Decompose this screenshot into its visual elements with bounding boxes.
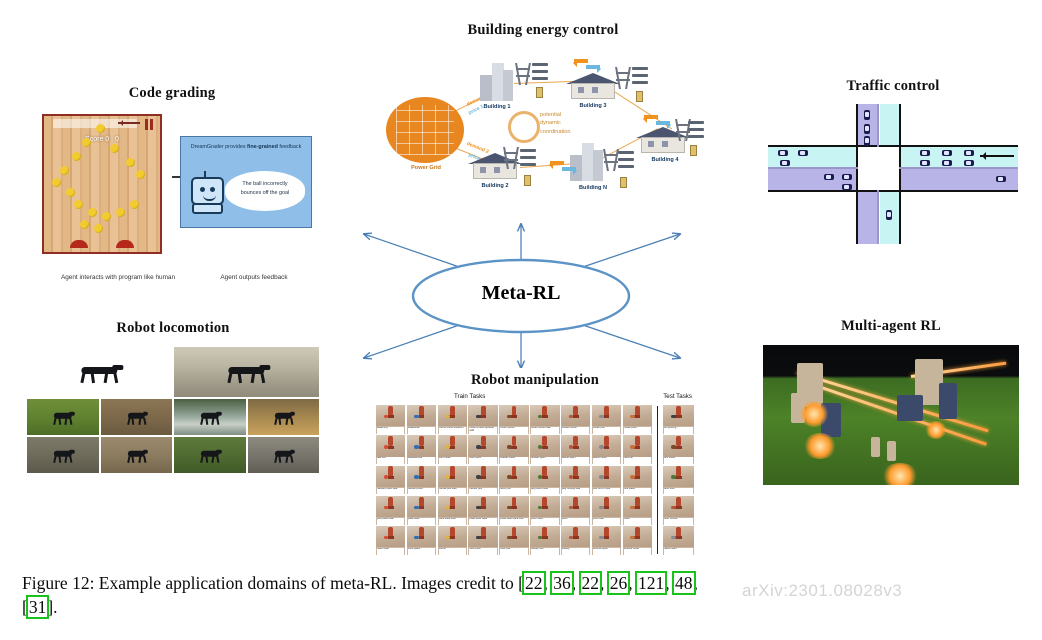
gripper-icon bbox=[573, 476, 579, 479]
task-thumbnail: window open bbox=[592, 526, 621, 555]
ball bbox=[102, 212, 111, 221]
locomotion-photo bbox=[27, 399, 99, 435]
gripper-icon bbox=[480, 506, 486, 509]
task-label: button press topdown bbox=[439, 427, 466, 434]
locomotion-photo bbox=[174, 437, 246, 473]
gripper-icon bbox=[449, 415, 455, 418]
energy-arrow-orange bbox=[550, 161, 564, 165]
task-image bbox=[499, 466, 528, 487]
locomotion-photo bbox=[174, 399, 246, 435]
task-thumbnail: sweep into bbox=[530, 526, 559, 555]
bubble-line-1: The ball incorrectly bbox=[225, 180, 305, 189]
task-thumbnail: door unlock bbox=[663, 496, 694, 525]
task-thumbnail: plate slide back side bbox=[499, 496, 528, 525]
task-label: basketball bbox=[408, 427, 435, 434]
gripper-icon bbox=[419, 476, 425, 479]
task-thumbnail: window close bbox=[623, 526, 652, 555]
task-object bbox=[671, 475, 676, 478]
task-image bbox=[468, 526, 497, 547]
gripper-icon bbox=[604, 476, 610, 479]
ball bbox=[66, 188, 75, 197]
starcraft-battle-screenshot bbox=[763, 345, 1019, 485]
traffic-control-title: Traffic control bbox=[762, 78, 1024, 95]
explosion bbox=[881, 463, 919, 485]
ball bbox=[82, 138, 91, 147]
feedback-header-bold: fine-grained bbox=[247, 144, 278, 150]
coordination-icon bbox=[508, 111, 540, 143]
building-4-label: Building 4 bbox=[636, 157, 694, 163]
task-image bbox=[438, 466, 467, 487]
task-label: door lock bbox=[664, 488, 693, 495]
pylon-icon bbox=[516, 63, 530, 85]
car bbox=[942, 150, 952, 156]
task-object bbox=[476, 536, 481, 539]
paddle-right bbox=[116, 240, 134, 248]
gripper-icon bbox=[388, 536, 394, 539]
gripper-icon bbox=[675, 446, 681, 449]
gripper-icon bbox=[675, 536, 681, 539]
road-edge bbox=[899, 104, 901, 244]
task-image bbox=[407, 405, 436, 426]
task-thumbnail: plate slide side bbox=[438, 496, 467, 525]
task-image bbox=[468, 496, 497, 517]
code-grading-body: Score 0 : 0 DreamGrader provides fine-gr… bbox=[32, 114, 312, 264]
panel-building-energy: Building energy control Power Grid poten… bbox=[368, 22, 718, 201]
bubble-line-2: bounces off the goal bbox=[225, 189, 305, 198]
robot-locomotion-title: Robot locomotion bbox=[18, 320, 328, 337]
task-image bbox=[376, 466, 405, 487]
task-image bbox=[438, 405, 467, 426]
task-thumbnail: handle press bbox=[407, 466, 436, 495]
task-thumbnail: sweep bbox=[561, 526, 590, 555]
task-label: peg unplug side bbox=[562, 488, 589, 495]
task-thumbnail: faucet open bbox=[561, 435, 590, 464]
task-label: soccer bbox=[439, 548, 466, 555]
explosion bbox=[925, 421, 947, 439]
task-label: sweep into bbox=[531, 548, 558, 555]
panel-multi-agent-rl: Multi-agent RL bbox=[760, 318, 1022, 485]
citation-ref[interactable]: 26 bbox=[609, 573, 629, 593]
robot-locomotion-collage bbox=[27, 347, 319, 469]
task-thumbnail: hammer bbox=[623, 435, 652, 464]
task-object bbox=[384, 445, 389, 448]
task-thumbnail: pick place bbox=[623, 466, 652, 495]
ball bbox=[130, 200, 139, 209]
task-image bbox=[438, 435, 467, 456]
gripper-icon bbox=[480, 415, 486, 418]
task-image bbox=[561, 405, 590, 426]
task-object bbox=[414, 475, 419, 478]
car bbox=[964, 150, 974, 156]
task-thumbnail: dial turn bbox=[376, 435, 405, 464]
task-image bbox=[623, 435, 652, 456]
task-object bbox=[671, 445, 676, 448]
gripper-icon bbox=[511, 476, 517, 479]
paddle-left bbox=[70, 240, 88, 248]
panel-robot-locomotion: Robot locomotion bbox=[18, 320, 328, 469]
car bbox=[964, 160, 974, 166]
power-grid-label: Power Grid bbox=[388, 165, 464, 171]
ball bbox=[72, 152, 81, 161]
task-object bbox=[630, 415, 635, 418]
energy-arrow-blue bbox=[562, 167, 576, 171]
task-image bbox=[663, 526, 694, 547]
gripper-icon bbox=[542, 476, 548, 479]
energy-arrow-blue bbox=[656, 121, 670, 125]
task-label: stick pull bbox=[500, 548, 527, 555]
task-object bbox=[507, 506, 512, 509]
task-thumbnail: coffee button bbox=[561, 405, 590, 434]
task-object bbox=[671, 506, 676, 509]
task-thumbnail: reach wall bbox=[376, 526, 405, 555]
task-thumbnail: stick push bbox=[468, 526, 497, 555]
task-image bbox=[663, 435, 694, 456]
task-object bbox=[599, 475, 604, 478]
subcaption-right: Agent outputs feedback bbox=[184, 274, 324, 281]
task-image bbox=[438, 496, 467, 517]
ball bbox=[110, 144, 119, 153]
coordination-label: potential dynamic coordination bbox=[540, 111, 600, 136]
task-thumbnail: soccer bbox=[438, 526, 467, 555]
task-label: window close bbox=[624, 548, 651, 555]
pylon-icon bbox=[604, 149, 618, 171]
feedback-header: DreamGrader provides fine-grained feedba… bbox=[186, 143, 306, 151]
task-object bbox=[630, 445, 635, 448]
ball bbox=[88, 208, 97, 217]
feedback-header-prefix: DreamGrader provides bbox=[191, 144, 247, 150]
task-image bbox=[592, 435, 621, 456]
gripper-icon bbox=[604, 536, 610, 539]
road-edge bbox=[768, 190, 1018, 192]
task-thumbnail: peg insert side bbox=[530, 466, 559, 495]
gripper-icon bbox=[388, 446, 394, 449]
task-label: button press bbox=[500, 427, 527, 434]
task-label: pick place bbox=[624, 488, 651, 495]
task-image bbox=[530, 466, 559, 487]
task-object bbox=[445, 475, 450, 478]
task-object bbox=[630, 475, 635, 478]
building-n-icon bbox=[570, 141, 604, 181]
gripper-icon bbox=[634, 415, 640, 418]
task-image bbox=[499, 405, 528, 426]
task-image bbox=[561, 435, 590, 456]
ball bbox=[116, 208, 125, 217]
task-label: handle press side bbox=[377, 488, 404, 495]
task-thumbnail: box close bbox=[663, 435, 694, 464]
car bbox=[864, 110, 870, 120]
task-image bbox=[623, 405, 652, 426]
task-object bbox=[414, 506, 419, 509]
task-object bbox=[671, 415, 676, 418]
task-image bbox=[623, 526, 652, 547]
pylon-icon bbox=[504, 147, 518, 169]
gripper-icon bbox=[573, 446, 579, 449]
task-object bbox=[599, 415, 604, 418]
task-image bbox=[499, 526, 528, 547]
task-label: stick push bbox=[469, 548, 496, 555]
citation-ref[interactable]: 48 bbox=[674, 573, 694, 593]
locomotion-photo bbox=[248, 437, 320, 473]
figure-caption: Figure 12: Example application domains o… bbox=[22, 572, 1022, 619]
task-label: push bbox=[562, 518, 589, 525]
task-object bbox=[445, 415, 450, 418]
game-pause-icon bbox=[145, 119, 153, 130]
task-image bbox=[663, 466, 694, 487]
task-label: handle pull side bbox=[439, 488, 466, 495]
train-tasks-label: Train Tasks bbox=[454, 393, 485, 400]
task-label: push back bbox=[531, 518, 558, 525]
task-image bbox=[376, 435, 405, 456]
meta-rl-label: Meta-RL bbox=[340, 282, 702, 305]
task-image bbox=[407, 526, 436, 547]
task-label: door close bbox=[439, 457, 466, 464]
task-thumbnail: pick out of hole bbox=[592, 466, 621, 495]
locomotion-photo bbox=[248, 399, 320, 435]
energy-arrow-orange bbox=[574, 59, 588, 63]
car bbox=[824, 174, 834, 180]
car bbox=[798, 150, 808, 156]
car bbox=[920, 160, 930, 166]
ball bbox=[60, 166, 69, 175]
ball bbox=[52, 178, 61, 187]
car bbox=[886, 210, 892, 220]
task-thumbnail: drawer open bbox=[530, 435, 559, 464]
task-label: box close bbox=[664, 457, 693, 464]
task-label: door unlock bbox=[664, 518, 693, 525]
task-object bbox=[414, 445, 419, 448]
task-object bbox=[476, 475, 481, 478]
gripper-icon bbox=[449, 506, 455, 509]
ball bbox=[96, 124, 105, 133]
task-thumbnail: faucet close bbox=[592, 435, 621, 464]
task-thumbnail: push wall bbox=[592, 496, 621, 525]
multi-agent-title: Multi-agent RL bbox=[760, 318, 1022, 335]
intersection-box bbox=[858, 147, 899, 190]
task-thumbnail: disassemble bbox=[407, 435, 436, 464]
task-label: handle pull bbox=[469, 488, 496, 495]
test-task-grid: bin pickingbox closedoor lockdoor unlock… bbox=[663, 405, 694, 555]
gripper-icon bbox=[480, 446, 486, 449]
traffic-intersection-diagram bbox=[768, 104, 1018, 244]
task-label: coffee pull bbox=[593, 427, 620, 434]
task-image bbox=[592, 526, 621, 547]
task-image bbox=[663, 496, 694, 517]
building-2-label: Building 2 bbox=[466, 183, 524, 189]
gripper-icon bbox=[604, 506, 610, 509]
task-thumbnail: basketball bbox=[407, 405, 436, 434]
task-label: bin picking bbox=[664, 427, 693, 434]
task-object bbox=[507, 415, 512, 418]
car bbox=[842, 174, 852, 180]
battery-icon bbox=[524, 175, 531, 186]
task-image bbox=[561, 466, 590, 487]
task-label: reach bbox=[624, 518, 651, 525]
energy-arrow-orange bbox=[644, 115, 658, 119]
building-n-label: Building N bbox=[566, 185, 620, 191]
task-thumbnail: pick place wall bbox=[376, 496, 405, 525]
car bbox=[778, 150, 788, 156]
battery-icon bbox=[636, 91, 643, 102]
gripper-icon bbox=[419, 415, 425, 418]
task-thumbnail: push bbox=[561, 496, 590, 525]
gripper-icon bbox=[419, 506, 425, 509]
task-object bbox=[507, 536, 512, 539]
code-grading-game-screenshot: Score 0 : 0 bbox=[42, 114, 162, 254]
task-label: drawer open bbox=[531, 457, 558, 464]
gripper-icon bbox=[675, 476, 681, 479]
task-thumbnail: plate slide back bbox=[468, 496, 497, 525]
task-thumbnail: hand insert bbox=[663, 526, 694, 555]
train-test-divider bbox=[657, 406, 658, 554]
task-image bbox=[468, 466, 497, 487]
gripper-icon bbox=[449, 446, 455, 449]
building-energy-title: Building energy control bbox=[368, 22, 718, 39]
task-label: hand insert bbox=[664, 548, 693, 555]
task-thumbnail: plate slide bbox=[407, 496, 436, 525]
citation-ref[interactable]: 36 bbox=[552, 573, 572, 593]
ball bbox=[136, 170, 145, 179]
task-label: pick out of hole bbox=[593, 488, 620, 495]
speech-bubble: The ball incorrectly bounces off the goa… bbox=[225, 171, 305, 211]
car bbox=[780, 160, 790, 166]
citation-ref[interactable]: 22 bbox=[524, 573, 544, 593]
task-thumbnail: handle press side bbox=[376, 466, 405, 495]
traffic-direction-arrow-icon bbox=[980, 155, 1014, 157]
test-tasks-label: Test Tasks bbox=[663, 393, 692, 400]
locomotion-photo bbox=[27, 347, 172, 397]
task-object bbox=[630, 506, 635, 509]
task-thumbnail: shelf place bbox=[407, 526, 436, 555]
locomotion-photo bbox=[27, 437, 99, 473]
pylon-icon bbox=[616, 67, 630, 89]
coordination-line-1: potential bbox=[540, 111, 600, 119]
task-thumbnail: push back bbox=[530, 496, 559, 525]
robot-manipulation-subheaders: Train Tasks Test Tasks bbox=[370, 393, 700, 405]
task-image bbox=[376, 526, 405, 547]
unit bbox=[939, 383, 957, 419]
ball bbox=[80, 220, 89, 229]
task-thumbnail: button press topdown bbox=[438, 405, 467, 434]
subcaption-left: Agent interacts with program like human bbox=[48, 274, 188, 281]
task-image bbox=[499, 496, 528, 517]
game-direction-arrow-icon bbox=[118, 122, 140, 124]
gripper-icon bbox=[480, 536, 486, 539]
gripper-icon bbox=[634, 446, 640, 449]
gripper-icon bbox=[511, 536, 517, 539]
task-image bbox=[407, 466, 436, 487]
task-label: peg insert side bbox=[531, 488, 558, 495]
gripper-icon bbox=[480, 476, 486, 479]
gripper-icon bbox=[542, 536, 548, 539]
task-image bbox=[468, 405, 497, 426]
task-label: reach wall bbox=[377, 548, 404, 555]
building-energy-diagram: Power Grid potential dynamic coordinatio… bbox=[380, 49, 706, 201]
gripper-icon bbox=[388, 476, 394, 479]
task-object bbox=[476, 506, 481, 509]
task-image bbox=[623, 496, 652, 517]
task-image bbox=[499, 435, 528, 456]
citation-ref[interactable]: 31 bbox=[28, 597, 48, 617]
gripper-icon bbox=[634, 506, 640, 509]
power-grid-icon bbox=[386, 97, 464, 163]
car bbox=[996, 176, 1006, 182]
gripper-icon bbox=[419, 446, 425, 449]
gripper-icon bbox=[675, 506, 681, 509]
task-label: drawer close bbox=[500, 457, 527, 464]
battery-icon bbox=[536, 87, 543, 98]
task-image bbox=[530, 405, 559, 426]
task-label: lever pull bbox=[500, 488, 527, 495]
gripper-icon bbox=[573, 415, 579, 418]
gripper-icon bbox=[675, 415, 681, 418]
task-label: coffee button bbox=[562, 427, 589, 434]
task-label: assembly bbox=[377, 427, 404, 434]
panel-traffic-control: Traffic control bbox=[762, 78, 1024, 244]
caption-tail: ]. bbox=[47, 597, 57, 617]
task-label: plate slide back bbox=[469, 518, 496, 525]
locomotion-photo bbox=[174, 347, 319, 397]
task-object bbox=[445, 506, 450, 509]
task-object bbox=[630, 536, 635, 539]
task-object bbox=[569, 506, 574, 509]
train-task-grid: assemblybasketballbutton press topdownbu… bbox=[376, 405, 652, 555]
task-label: dial turn bbox=[377, 457, 404, 464]
task-thumbnail: door close bbox=[438, 435, 467, 464]
gripper-icon bbox=[542, 415, 548, 418]
task-image bbox=[530, 526, 559, 547]
task-thumbnail: lever pull bbox=[499, 466, 528, 495]
task-object bbox=[445, 445, 450, 448]
task-object bbox=[507, 445, 512, 448]
energy-arrow-blue bbox=[586, 65, 600, 69]
task-label: window open bbox=[593, 548, 620, 555]
task-object bbox=[538, 445, 543, 448]
meter-icon bbox=[520, 149, 536, 169]
battery-icon bbox=[620, 177, 627, 188]
coordination-line-3: coordination bbox=[540, 128, 600, 136]
task-image bbox=[376, 405, 405, 426]
citation-ref[interactable]: 121 bbox=[637, 573, 665, 593]
ball bbox=[94, 224, 103, 233]
task-object bbox=[599, 445, 604, 448]
meter-icon bbox=[688, 121, 704, 141]
task-object bbox=[599, 506, 604, 509]
dreamgrader-feedback-card: DreamGrader provides fine-grained feedba… bbox=[180, 136, 312, 228]
task-label: push wall bbox=[593, 518, 620, 525]
task-label: disassemble bbox=[408, 457, 435, 464]
explosion bbox=[803, 433, 837, 459]
task-thumbnail: button press wall bbox=[530, 405, 559, 434]
car bbox=[842, 184, 852, 190]
locomotion-photo bbox=[101, 399, 173, 435]
gripper-icon bbox=[449, 476, 455, 479]
task-image bbox=[561, 496, 590, 517]
citation-ref[interactable]: 22 bbox=[581, 573, 601, 593]
gripper-icon bbox=[634, 476, 640, 479]
task-label: button press wall bbox=[531, 427, 558, 434]
gripper-icon bbox=[511, 506, 517, 509]
task-image bbox=[438, 526, 467, 547]
task-thumbnail: coffee push bbox=[623, 405, 652, 434]
explosion bbox=[799, 401, 829, 427]
feedback-header-suffix: feedback bbox=[278, 144, 301, 150]
task-image bbox=[592, 496, 621, 517]
task-label: button press topdown wall bbox=[469, 427, 496, 434]
meta-rl-hub: Meta-RL bbox=[340, 222, 702, 368]
building-1-icon bbox=[480, 61, 514, 101]
task-image bbox=[561, 526, 590, 547]
car bbox=[864, 136, 870, 146]
